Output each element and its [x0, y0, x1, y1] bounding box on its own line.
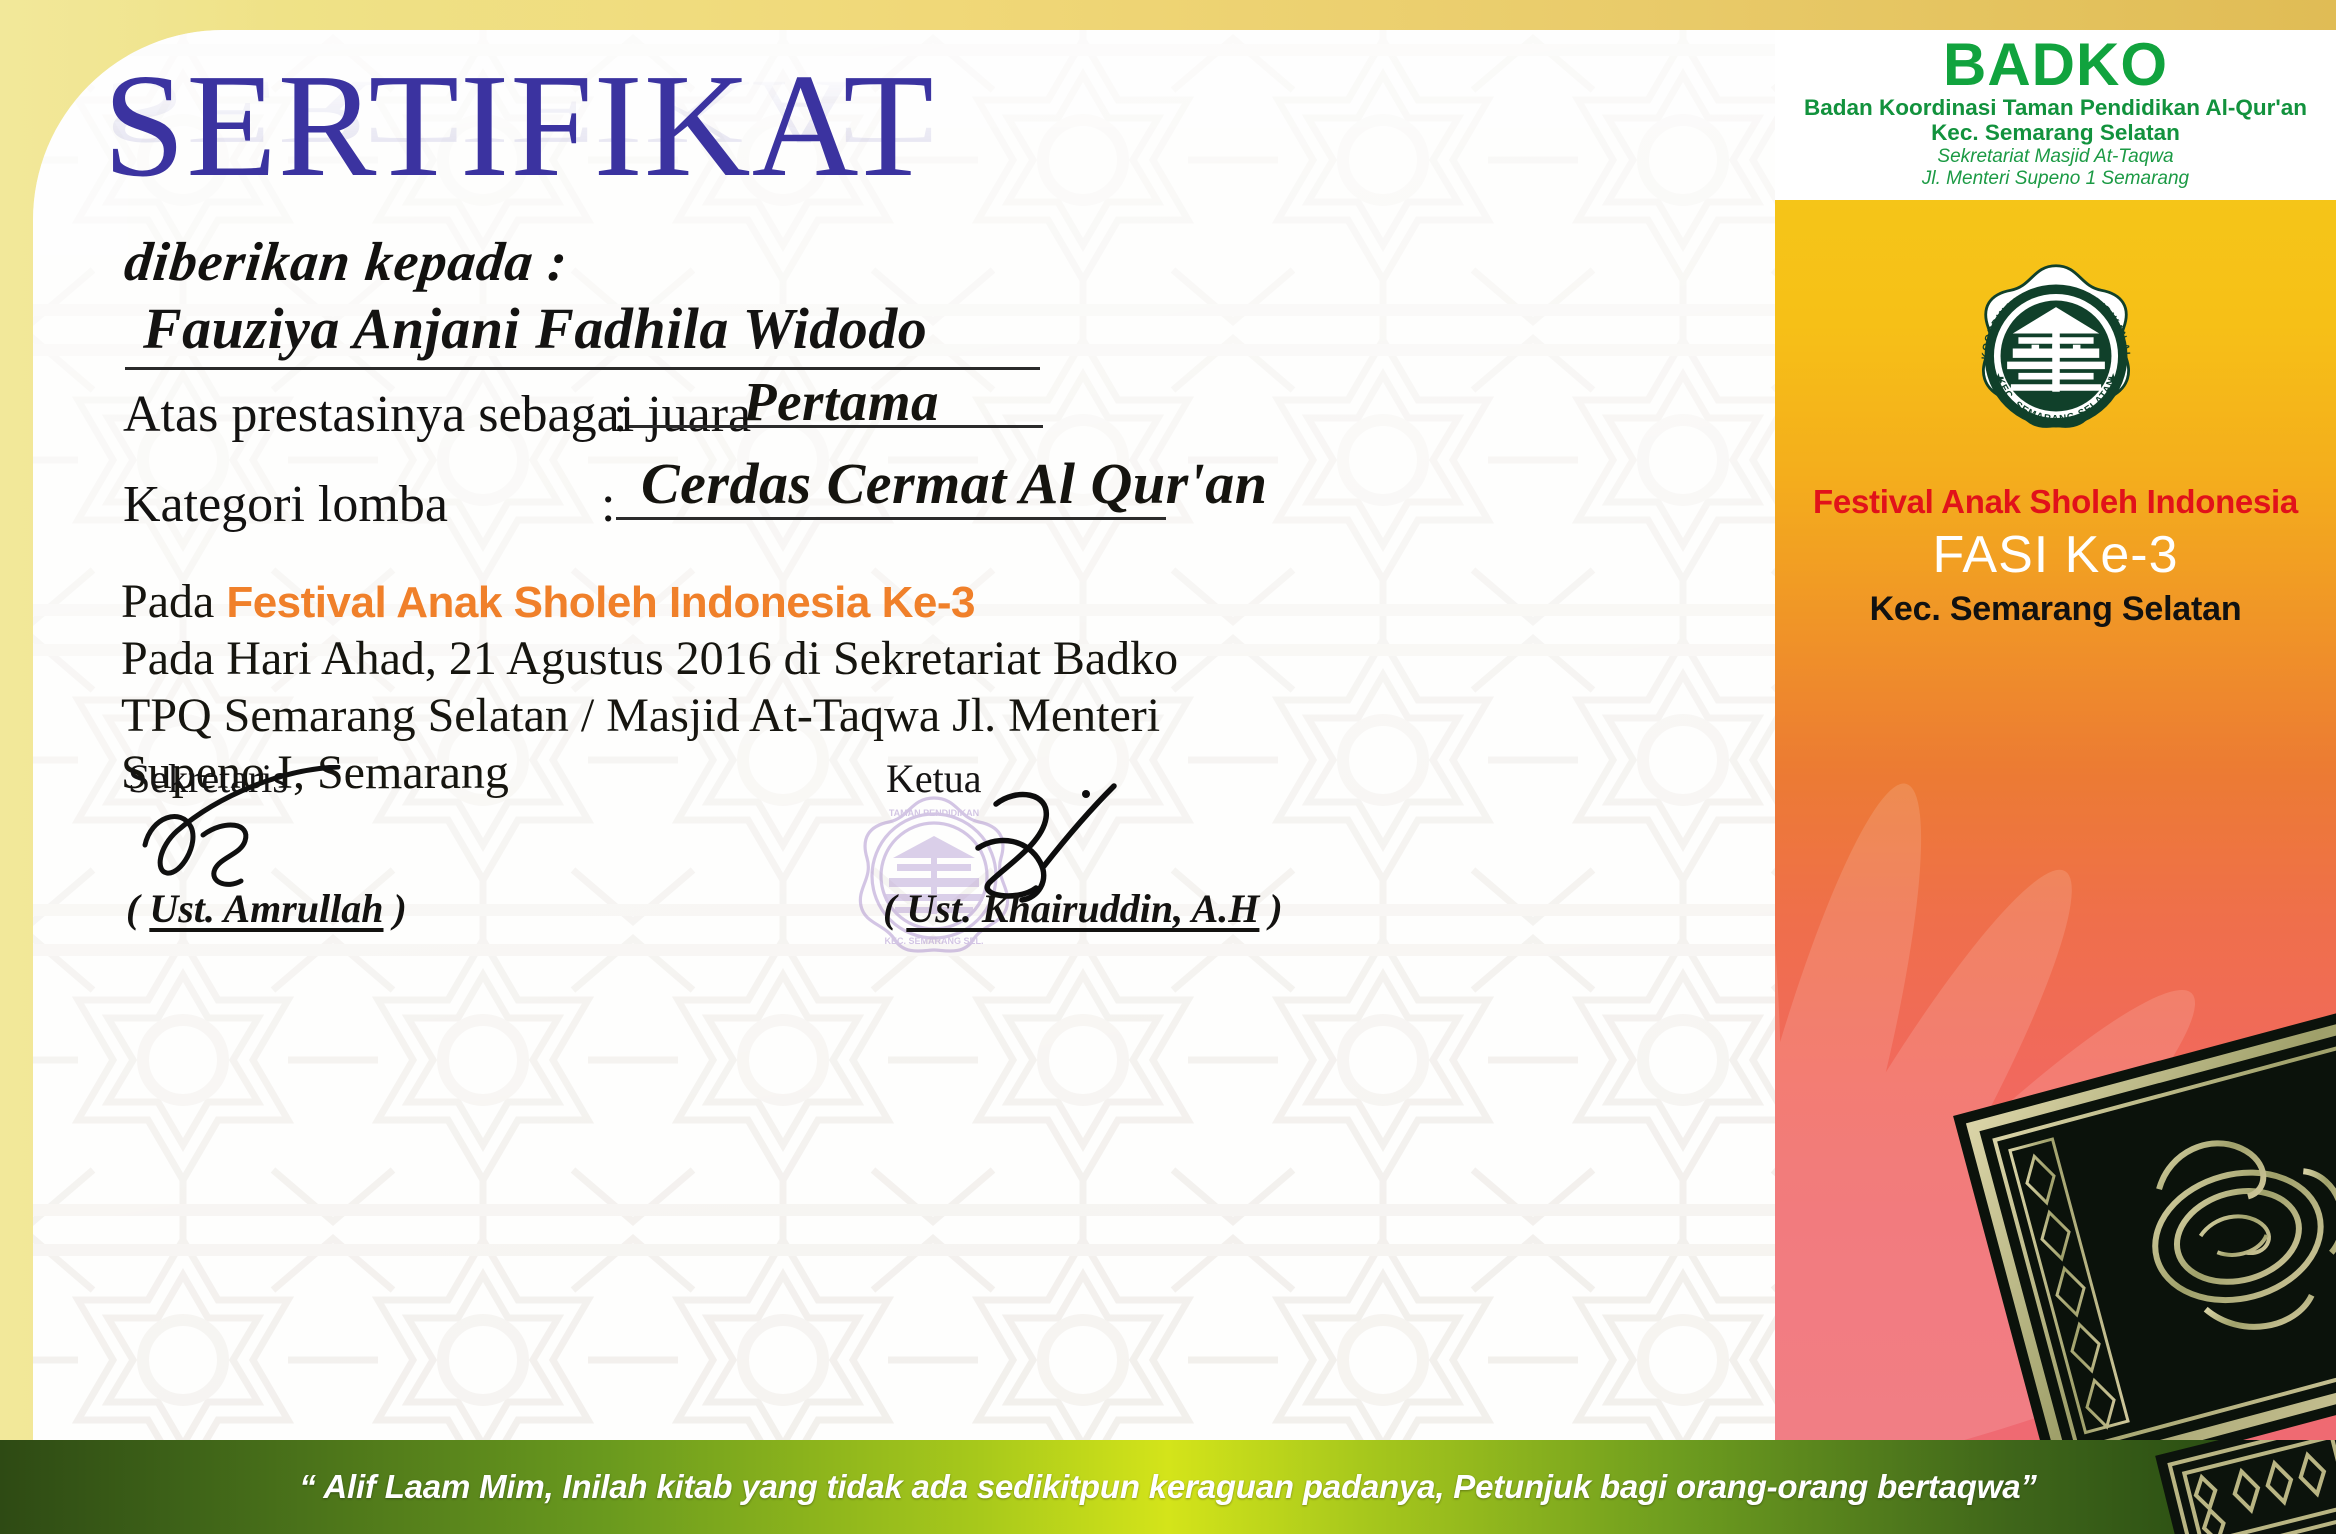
- category-label: Kategori lomba: [123, 475, 448, 534]
- badko-secretariat: Sekretariat Masjid At-Taqwa: [1937, 146, 2173, 169]
- festival-edition: FASI Ke-3: [1775, 525, 2336, 585]
- badko-full-name: Badan Koordinasi Taman Pendidikan Al-Qur…: [1804, 95, 2307, 120]
- certificate-body: SERTIFIKAT SERTIFIKAT diberikan kepada :…: [33, 30, 1775, 1440]
- event-sidebar: BADKO Badan Koordinasi Taman Pendidikan …: [1775, 30, 2336, 1440]
- category-value: Cerdas Cermat Al Qur'an: [641, 450, 1268, 517]
- certificate-card: SERTIFIKAT SERTIFIKAT diberikan kepada :…: [33, 30, 2336, 1440]
- badko-district: Kec. Semarang Selatan: [1931, 120, 2180, 145]
- event-prefix: Pada: [121, 575, 226, 628]
- badko-emblem-logo: BADAN KOORDINASI TAMAN PENDIDIKAN AL QUR…: [1962, 262, 2150, 450]
- badko-address: Jl. Menteri Supeno 1 Semarang: [1922, 168, 2189, 191]
- given-to-label: diberikan kepada :: [122, 230, 571, 293]
- letterhead: BADKO Badan Koordinasi Taman Pendidikan …: [1775, 30, 2336, 200]
- event-gradient-panel: BADAN KOORDINASI TAMAN PENDIDIKAN AL QUR…: [1775, 200, 2336, 1440]
- category-colon: :: [601, 475, 615, 534]
- event-highlight: Festival Anak Sholeh Indonesia Ke-3: [226, 578, 975, 627]
- footer-quote: “ Alif Laam Mim, Inilah kitab yang tidak…: [0, 1440, 2336, 1534]
- badko-acronym: BADKO: [1943, 34, 2168, 95]
- festival-district: Kec. Semarang Selatan: [1775, 590, 2336, 629]
- achievement-underline: [629, 425, 1043, 428]
- certificate-page: SERTIFIKAT SERTIFIKAT diberikan kepada :…: [0, 0, 2336, 1534]
- category-underline: [616, 517, 1166, 520]
- chairman-name: ( Ust. Khairuddin, A.H ): [883, 885, 1283, 932]
- recipient-name: Fauziya Anjani Fadhila Widodo: [143, 295, 927, 362]
- footer-quran-decoration: [2066, 1440, 2336, 1534]
- official-stamp-icon: TAMAN PENDIDIKAN KEC. SEMARANG SEL.: [839, 792, 1029, 962]
- secretary-role-label: Sekretaris: [128, 755, 288, 802]
- secretary-name: ( Ust. Amrullah ): [126, 885, 407, 932]
- svg-text:★: ★: [2108, 371, 2119, 385]
- footer-banner: “ Alif Laam Mim, Inilah kitab yang tidak…: [0, 1440, 2336, 1534]
- svg-text:TAMAN PENDIDIKAN: TAMAN PENDIDIKAN: [889, 808, 979, 818]
- chairman-name-text: Ust. Khairuddin, A.H: [906, 886, 1259, 931]
- svg-text:KEC. SEMARANG SEL.: KEC. SEMARANG SEL.: [884, 936, 983, 946]
- achievement-value: Pertama: [743, 370, 939, 433]
- achievement-label: Atas prestasinya sebagai juara: [123, 385, 751, 444]
- secretary-name-text: Ust. Amrullah: [149, 886, 383, 931]
- achievement-colon: :: [613, 385, 627, 444]
- certificate-title: SERTIFIKAT: [103, 52, 935, 200]
- svg-text:★: ★: [1993, 371, 2004, 385]
- festival-name: Festival Anak Sholeh Indonesia: [1775, 483, 2336, 521]
